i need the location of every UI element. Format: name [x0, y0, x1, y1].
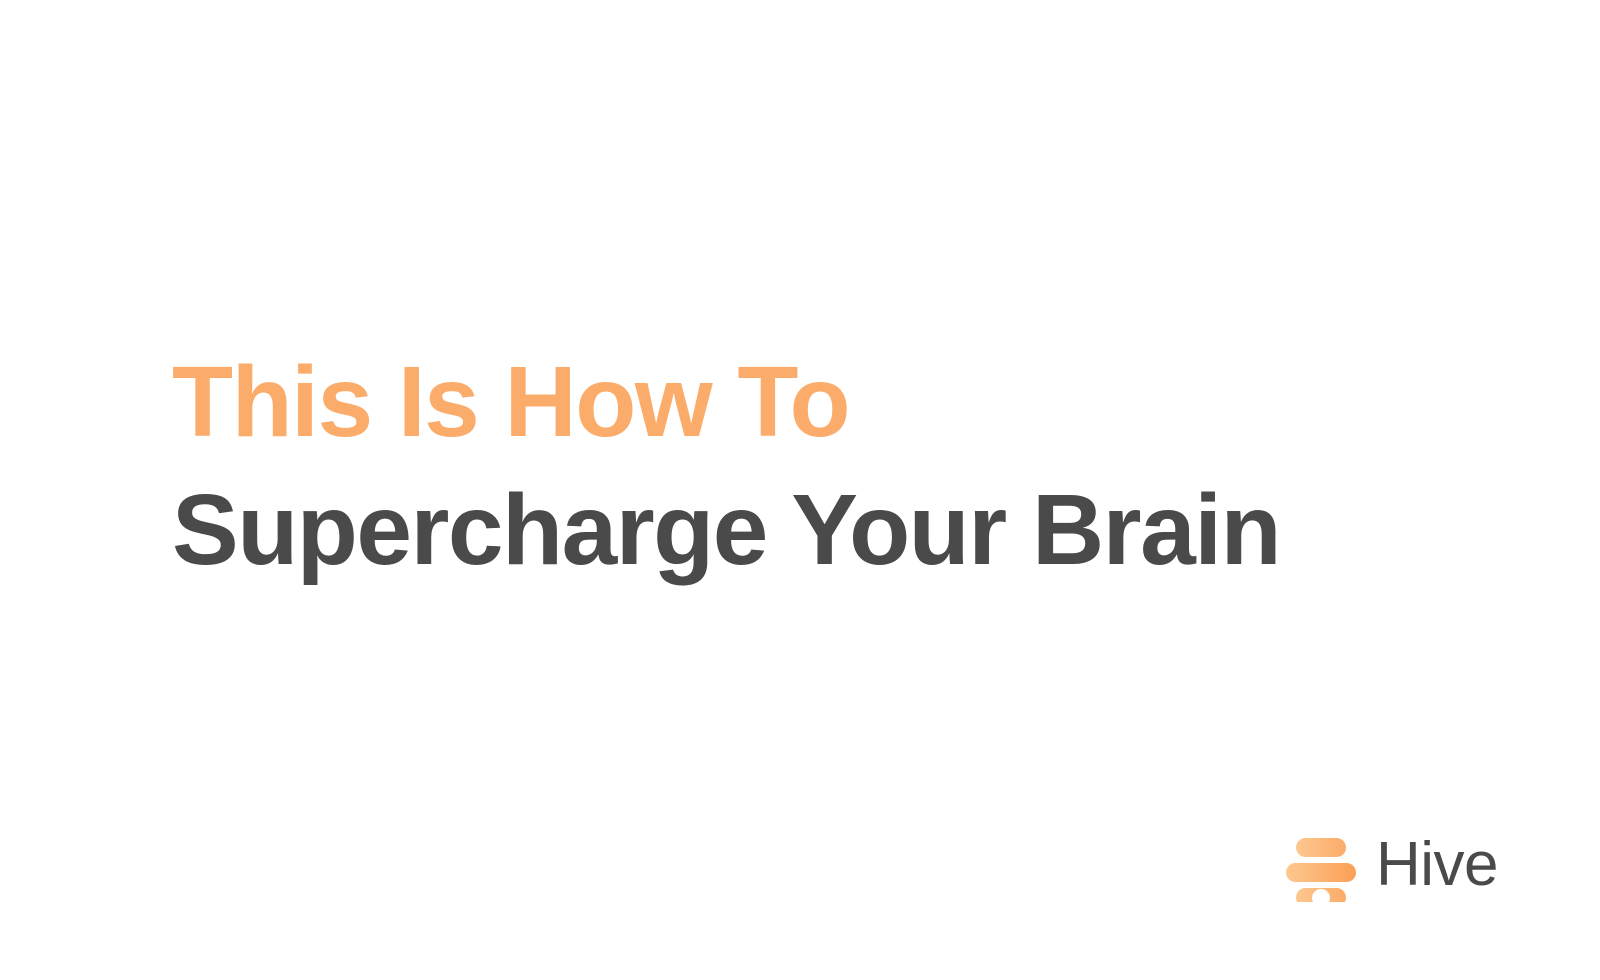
hive-logo-lockup: Hive	[1282, 824, 1498, 902]
headline-block: This Is How To Supercharge Your Brain	[172, 338, 1412, 594]
hive-beehive-icon	[1282, 824, 1360, 902]
headline-line-one: This Is How To	[172, 338, 1412, 466]
hive-wordmark: Hive	[1376, 834, 1498, 896]
slide-canvas: This Is How To Supercharge Your Brain	[0, 0, 1600, 980]
headline-line-two: Supercharge Your Brain	[172, 466, 1412, 594]
